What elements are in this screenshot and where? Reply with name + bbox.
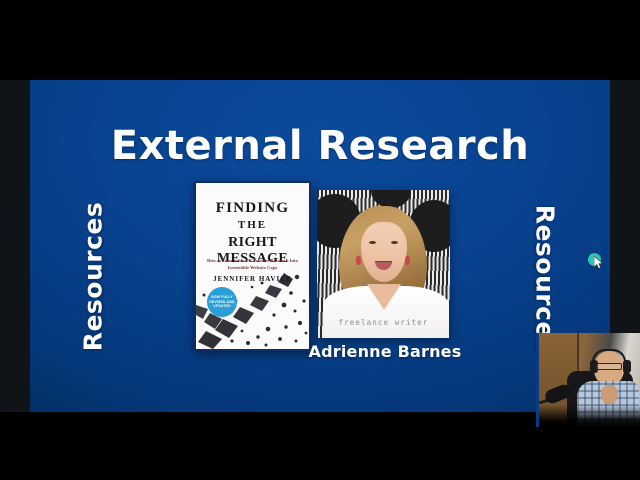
book-title-line-2: THE	[196, 219, 309, 231]
headphone-earcup-right	[623, 360, 631, 373]
book-subtitle: How to Turn Voice of Customer Research I…	[196, 258, 309, 272]
speaker-name-caption: Adrienne Barnes	[300, 342, 470, 361]
slide-title: External Research	[30, 126, 610, 166]
book-cover-badge: NOW FULLY REVISED AND UPDATED	[207, 287, 237, 317]
presentation-slide: External Research Resources Resources	[30, 80, 610, 412]
side-label-resources-left: Resources	[79, 182, 108, 372]
webcam-person-hand	[601, 385, 618, 404]
video-player-stage: External Research Resources Resources	[0, 0, 640, 480]
webcam-bottom-vignette	[539, 405, 640, 427]
photo-eye-right	[391, 241, 398, 244]
photo-eye-left	[369, 241, 376, 244]
book-cover-image: FINDING THE RIGHT MESSAGE How to Turn Vo…	[194, 181, 311, 351]
photo-shirt-text: freelance writer	[317, 318, 450, 327]
screenshare-gutter-left	[0, 80, 30, 412]
book-title-line-1: FINDING	[196, 200, 309, 217]
speaker-photo: freelance writer	[317, 190, 450, 338]
photo-earring-right	[405, 256, 410, 265]
photo-earring-left	[356, 256, 361, 265]
book-author: JENNIFER HAVICE	[196, 275, 309, 283]
glasses-icon	[596, 363, 622, 370]
book-cover-canvas: FINDING THE RIGHT MESSAGE How to Turn Vo…	[196, 183, 309, 349]
webcam-video-tile[interactable]	[536, 333, 640, 427]
